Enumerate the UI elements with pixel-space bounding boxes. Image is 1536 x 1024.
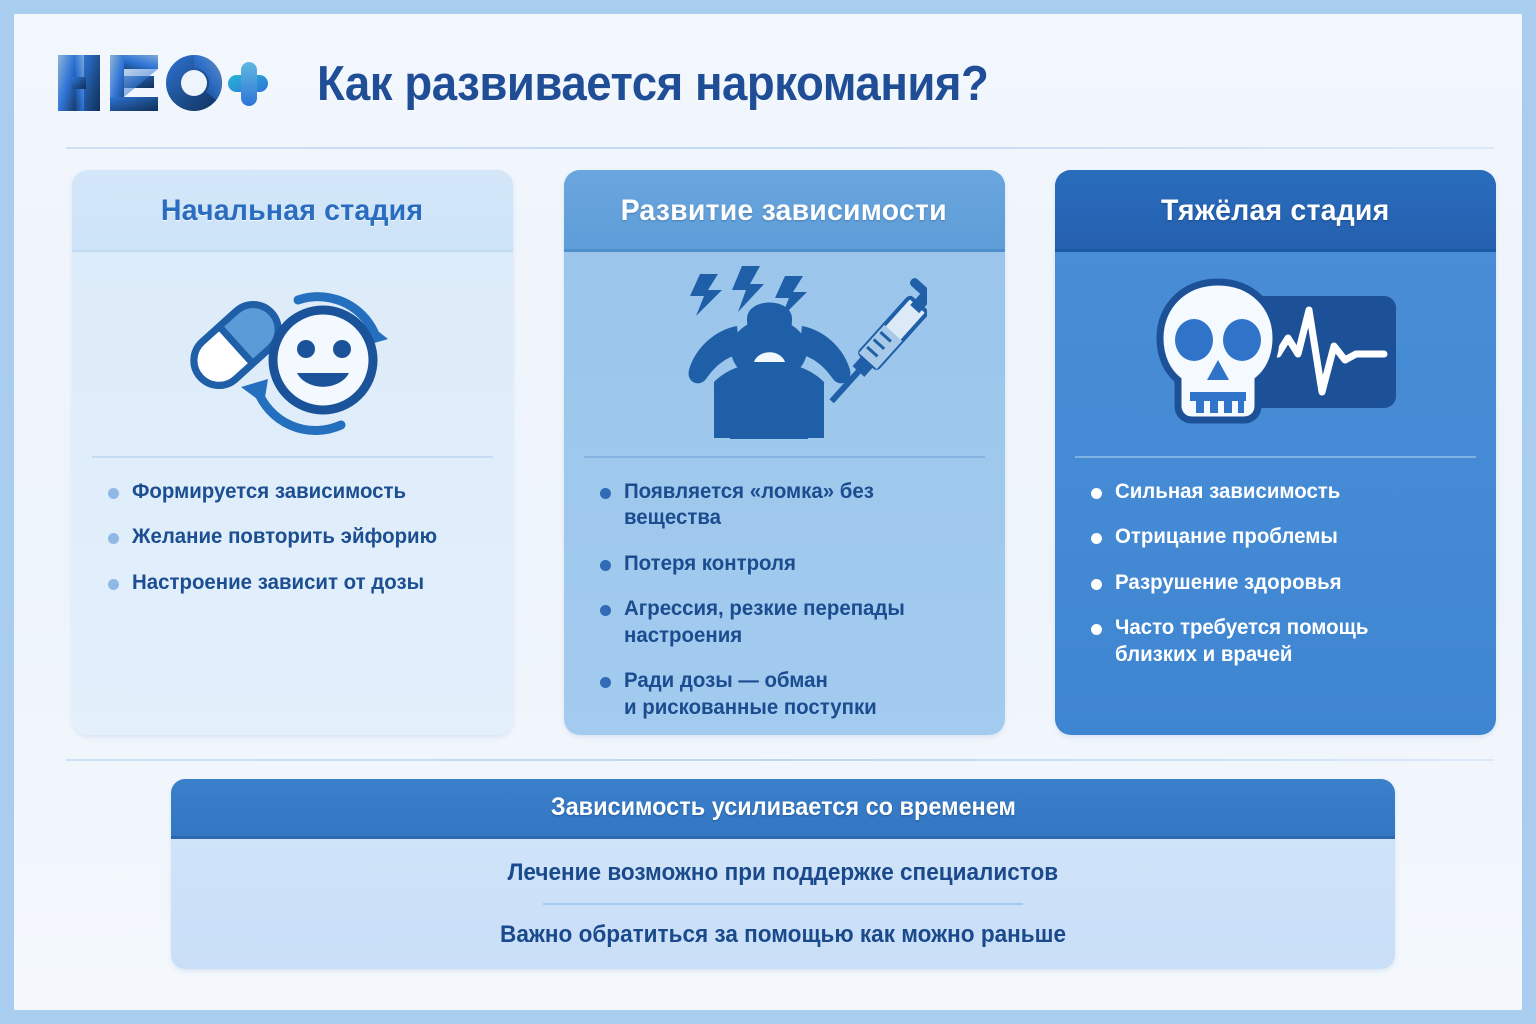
bullet-text: Формируется зависимость xyxy=(132,478,406,504)
bullet-text: Разрушение здоровья xyxy=(1115,569,1342,595)
summary-panel: Зависимость усиливается со временем Лече… xyxy=(171,779,1395,969)
card-list-divider xyxy=(92,456,493,458)
stage-card-body: Формируется зависимость Желание повторит… xyxy=(72,252,513,735)
section-divider xyxy=(66,759,1494,761)
list-item: Появляется «ломка» без вещества xyxy=(600,478,979,531)
summary-panel-body: Лечение возможно при поддержке специалис… xyxy=(171,839,1395,969)
bullet-dot-icon xyxy=(108,488,119,499)
card-list-divider xyxy=(1075,456,1476,458)
list-item: Агрессия, резкие перепады настроения xyxy=(600,595,979,648)
stage-card-header: Начальная стадия xyxy=(72,170,513,252)
page-header: Как развивается наркомания? xyxy=(54,36,1494,132)
bullet-text: Ради дозы — обман и рискованные поступки xyxy=(624,667,877,720)
stage-card-header: Тяжёлая стадия xyxy=(1055,170,1496,252)
stage-bullet-list: Появляется «ломка» без вещества Потеря к… xyxy=(564,478,1005,720)
card-list-divider xyxy=(584,456,985,458)
bullet-dot-icon xyxy=(1091,488,1102,499)
list-item: Сильная зависимость xyxy=(1091,478,1470,504)
summary-panel-header: Зависимость усиливается со временем xyxy=(171,779,1395,839)
stage-title: Начальная стадия xyxy=(161,194,423,228)
bullet-text: Часто требуется помощь близких и врачей xyxy=(1115,614,1368,667)
summary-line-1: Лечение возможно при поддержке специалис… xyxy=(508,859,1059,887)
list-item: Желание повторить эйфорию xyxy=(108,523,487,549)
list-item: Разрушение здоровья xyxy=(1091,569,1470,595)
stages-container: Начальная стадия xyxy=(72,170,1496,735)
page-title: Как развивается наркомания? xyxy=(317,56,988,112)
bullet-dot-icon xyxy=(600,488,611,499)
bullet-dot-icon xyxy=(600,560,611,571)
skull-and-ecg-icon xyxy=(1055,252,1496,456)
bullet-dot-icon xyxy=(600,605,611,616)
stage-card-initial[interactable]: Начальная стадия xyxy=(72,170,513,735)
bullet-text: Агрессия, резкие перепады настроения xyxy=(624,595,961,648)
list-item: Формируется зависимость xyxy=(108,478,487,504)
header-divider xyxy=(66,147,1494,149)
list-item: Часто требуется помощь близких и врачей xyxy=(1091,614,1470,667)
stage-card-header: Развитие зависимости xyxy=(564,170,1005,252)
list-item: Ради дозы — обман и рискованные поступки xyxy=(600,667,979,720)
pill-and-smiley-cycle-icon xyxy=(72,252,513,456)
stage-card-developing[interactable]: Развитие зависимости xyxy=(564,170,1005,735)
neo-plus-logo-icon xyxy=(54,49,269,117)
bullet-dot-icon xyxy=(1091,579,1102,590)
bullet-text: Появляется «ломка» без вещества xyxy=(624,478,961,531)
bullet-dot-icon xyxy=(600,677,611,688)
list-item: Потеря контроля xyxy=(600,550,979,576)
bullet-text: Отрицание проблемы xyxy=(1115,523,1338,549)
bullet-text: Потеря контроля xyxy=(624,550,796,576)
list-item: Настроение зависит от дозы xyxy=(108,569,487,595)
summary-header-text: Зависимость усиливается со временем xyxy=(550,793,1015,822)
summary-inner-divider xyxy=(543,903,1023,905)
infographic-page: Как развивается наркомания? Начальная ст… xyxy=(14,14,1522,1010)
list-item: Отрицание проблемы xyxy=(1091,523,1470,549)
bullet-dot-icon xyxy=(108,533,119,544)
stage-title: Тяжёлая стадия xyxy=(1161,194,1389,228)
stage-bullet-list: Формируется зависимость Желание повторит… xyxy=(72,478,513,595)
brand-logo xyxy=(54,49,269,119)
bullet-text: Сильная зависимость xyxy=(1115,478,1340,504)
stage-title: Развитие зависимости xyxy=(621,194,947,228)
bullet-text: Желание повторить эйфорию xyxy=(132,523,437,549)
stage-card-body: Сильная зависимость Отрицание проблемы Р… xyxy=(1055,252,1496,735)
summary-line-2: Важно обратиться за помощью как можно ра… xyxy=(500,921,1066,949)
stage-bullet-list: Сильная зависимость Отрицание проблемы Р… xyxy=(1055,478,1496,667)
bullet-dot-icon xyxy=(1091,533,1102,544)
bullet-text: Настроение зависит от дозы xyxy=(132,569,424,595)
bullet-dot-icon xyxy=(1091,624,1102,635)
stressed-person-and-syringe-icon xyxy=(564,252,1005,456)
stage-card-body: Появляется «ломка» без вещества Потеря к… xyxy=(564,252,1005,735)
bullet-dot-icon xyxy=(108,579,119,590)
stage-card-severe[interactable]: Тяжёлая стадия xyxy=(1055,170,1496,735)
